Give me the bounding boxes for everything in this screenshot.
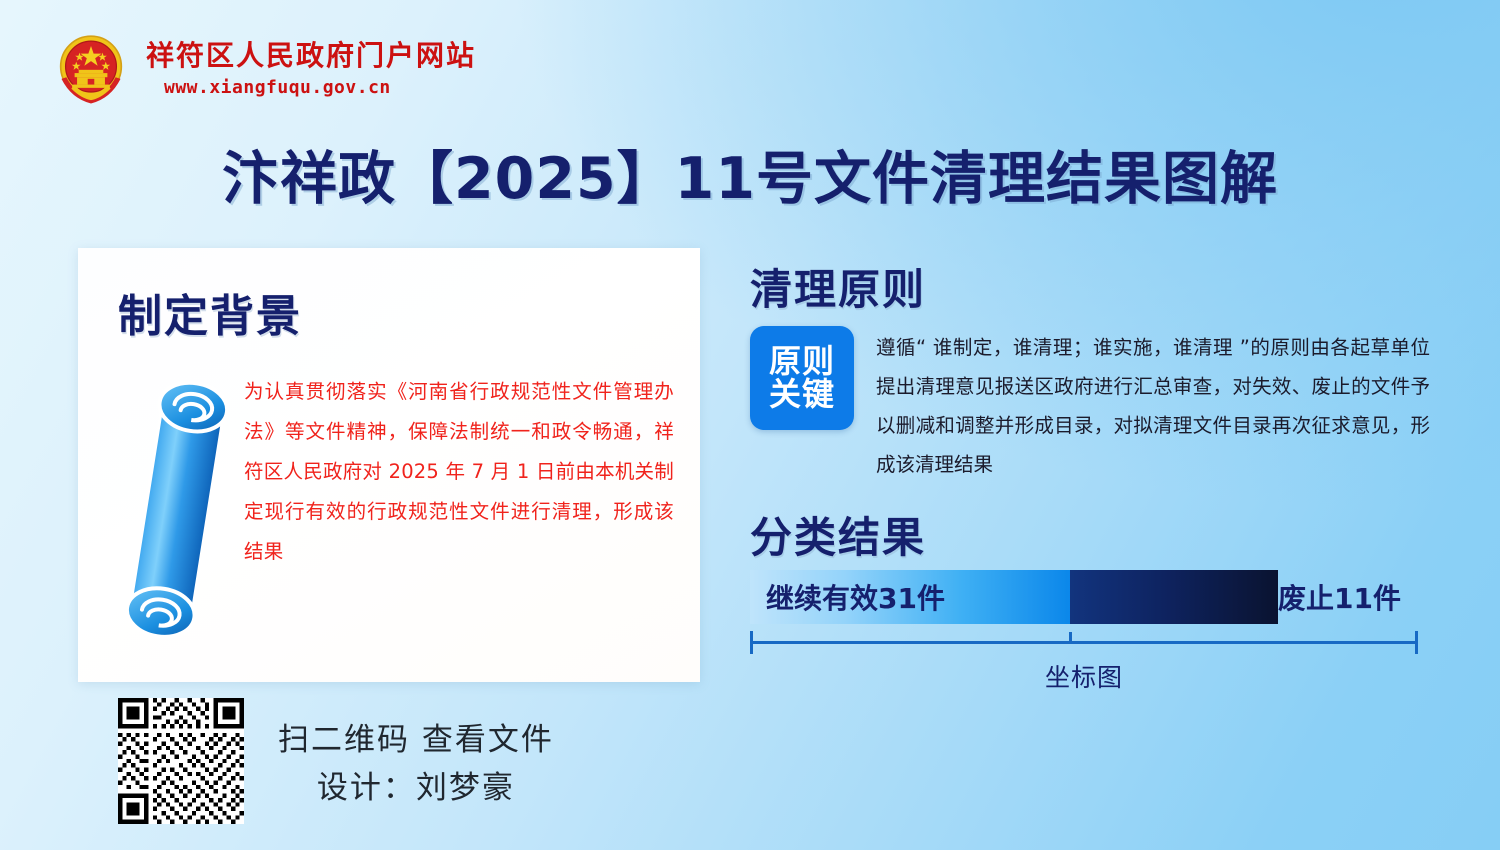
bar-label-abolished: 废止11件 xyxy=(1278,570,1401,624)
principle-badge-line-2: 关键 xyxy=(769,378,835,412)
principles-section: 清理原则 原则 关键 遵循“ 谁制定，谁清理；谁实施，谁清理 ”的原则由各起草单… xyxy=(750,268,1430,484)
footer-text: 扫二维码 查看文件 设计：刘梦豪 xyxy=(278,698,554,812)
footer: 扫二维码 查看文件 设计：刘梦豪 xyxy=(118,698,554,824)
rolled-scroll-icon xyxy=(108,370,248,650)
site-name: 祥符区人民政府门户网站 xyxy=(146,40,476,72)
stacked-bar: 继续有效31件 废止11件 xyxy=(750,570,1418,624)
classification-section: 分类结果 继续有效31件 废止11件 坐标图 xyxy=(750,516,1430,694)
footer-scan-hint: 扫二维码 查看文件 xyxy=(278,716,554,764)
background-body-text: 为认真贯彻落实《河南省行政规范性文件管理办法》等文件精神，保障法制统一和政令畅通… xyxy=(244,372,674,572)
principles-body-text: 遵循“ 谁制定，谁清理；谁实施，谁清理 ”的原则由各起草单位提出清理意见报送区政… xyxy=(876,326,1430,484)
classification-heading: 分类结果 xyxy=(750,516,1430,560)
bar-segment-valid: 继续有效31件 xyxy=(750,570,1070,624)
principle-badge-line-1: 原则 xyxy=(769,345,835,379)
chart-axis-label: 坐标图 xyxy=(750,658,1418,694)
china-national-emblem-icon xyxy=(50,28,132,110)
infographic-poster: 祥符区人民政府门户网站 www.xiangfuqu.gov.cn 汴祥政【202… xyxy=(0,0,1500,850)
chart-axis xyxy=(750,630,1418,656)
footer-designer: 设计：刘梦豪 xyxy=(278,764,554,812)
axis-tick-start xyxy=(750,631,753,654)
qr-code-icon[interactable] xyxy=(118,698,244,824)
background-heading: 制定背景 xyxy=(118,280,302,344)
axis-tick-middle xyxy=(1069,632,1072,644)
classification-chart: 继续有效31件 废止11件 坐标图 xyxy=(750,570,1430,694)
site-url[interactable]: www.xiangfuqu.gov.cn xyxy=(146,77,476,98)
page-title: 汴祥政【2025】11号文件清理结果图解 xyxy=(0,133,1500,215)
site-header: 祥符区人民政府门户网站 www.xiangfuqu.gov.cn xyxy=(50,28,476,110)
bar-segment-abolished xyxy=(1070,570,1278,624)
axis-tick-end xyxy=(1415,631,1418,654)
axis-line xyxy=(750,641,1418,644)
principles-heading: 清理原则 xyxy=(750,268,1430,312)
bar-label-valid: 继续有效31件 xyxy=(750,577,945,617)
principle-badge: 原则 关键 xyxy=(750,326,854,430)
site-identity-text: 祥符区人民政府门户网站 www.xiangfuqu.gov.cn xyxy=(146,40,476,97)
background-card: 制定背景 xyxy=(78,248,700,682)
principles-body-row: 原则 关键 遵循“ 谁制定，谁清理；谁实施，谁清理 ”的原则由各起草单位提出清理… xyxy=(750,326,1430,484)
